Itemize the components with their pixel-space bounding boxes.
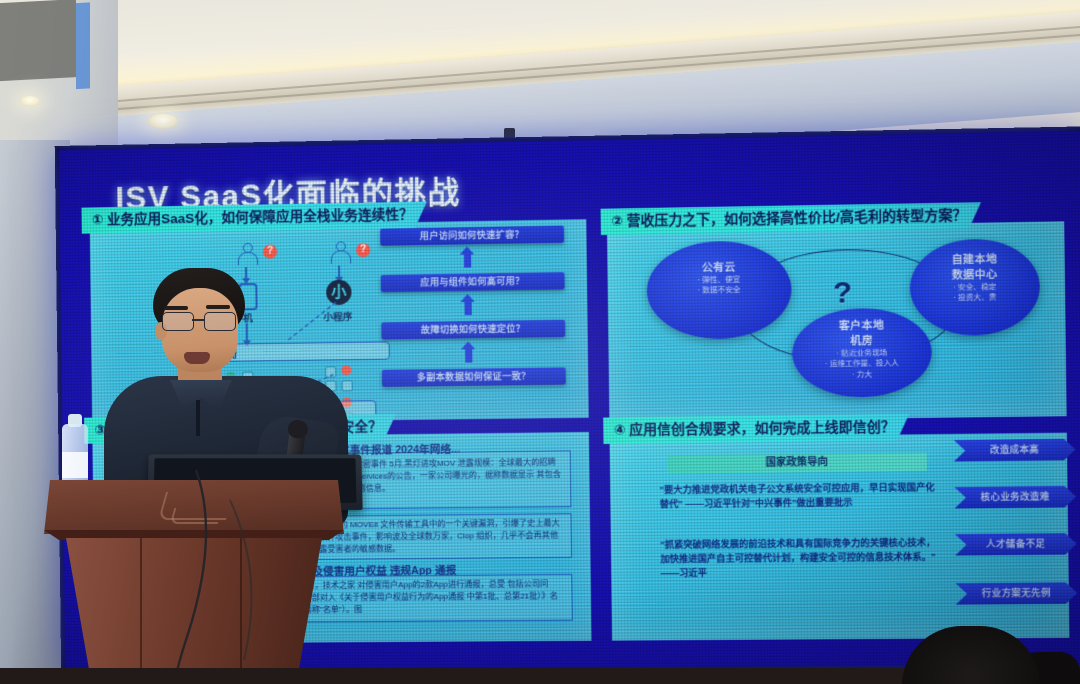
quadrant-2-diagram: 公有云 · 弹性、便宜 · 数据不安全 自建本地 数据中心 · 安全、稳定 · … [607, 221, 1067, 421]
q1-callout-box: 多副本数据如何保证一致？ [382, 367, 566, 387]
policy-quote: "要大力推进党政机关电子公文系统安全可控应用，早日实现国产化替代" ——习近平针… [660, 481, 936, 512]
question-mark-symbol: ? [833, 276, 852, 311]
challenge-ribbon: 人才储备不足 [955, 533, 1077, 556]
podium-top [44, 480, 344, 534]
up-arrow-icon [464, 253, 471, 267]
ceiling-downlight [148, 114, 178, 129]
pillar-blue-strip [76, 2, 90, 89]
q1-callout-box: 应用与组件如何高可用？ [381, 272, 565, 292]
speaker-eyebrow [164, 306, 188, 310]
ceiling-downlight [20, 96, 40, 106]
up-arrow-icon [465, 301, 472, 315]
speaker-mouth [184, 352, 210, 364]
challenge-ribbon: 核心业务改造难 [954, 486, 1076, 509]
up-arrow-icon [465, 348, 472, 362]
quadrant-2-panel: ② 营收压力之下，如何选择高性价比/高毛利的转型方案？ 公有云 · 弹性、便宜 … [607, 221, 1067, 421]
podium-seam [140, 538, 142, 684]
quadrant-4-panel: ④ 应用信创合规要求，如何完成上线即信创？ 国家政策导向 "要大力推进党政机关电… [610, 433, 1070, 641]
challenge-ribbon: 行业方案无先例 [955, 582, 1077, 604]
venn-node-title: 客户本地 机房 [792, 317, 932, 350]
q1-callout-box: 用户访问如何快速扩容？ [380, 226, 564, 246]
venn-node-bullet: · 数据不安全 [647, 284, 792, 297]
glasses-icon [160, 312, 238, 330]
podium-body [66, 538, 322, 684]
podium [44, 480, 344, 684]
polo-placket [196, 400, 200, 436]
venn-node-title: 自建本地 数据中心 [910, 250, 1040, 283]
policy-panel-title: 国家政策导向 [667, 453, 927, 474]
quadrant-4-heading: ④ 应用信创合规要求，如何完成上线即信创？ [603, 414, 909, 444]
screenshot-root: ISV SaaS化面临的挑战 ① 业务应用SaaS化，如何保障应用全栈业务连续性… [0, 0, 1080, 684]
venn-node-bullet: · 力大 [792, 368, 932, 380]
bottle-label [62, 452, 88, 478]
challenge-ribbon: 改造成本高 [954, 439, 1076, 462]
podium-logo-mark [170, 508, 223, 524]
venn-node-bullet: · 投资大、贵 [910, 292, 1040, 305]
pillar-panel [0, 0, 76, 81]
q1-callout-box: 故障切换如何快速定位？ [381, 320, 565, 340]
venn-node-customer-room: 客户本地 机房 · 贴近业务现场 · 运维工作量、投入人 · 力大 [792, 307, 933, 398]
quadrant-4-policy: 国家政策导向 "要大力推进党政机关电子公文系统安全可控应用，早日实现国产化替代"… [610, 433, 1070, 641]
policy-quote: "抓紧突破网络发展的前沿技术和具有国际竞争力的关键核心技术，加快推进国产自主可控… [660, 536, 943, 581]
speaker-eyebrow [206, 305, 230, 309]
podium-seam [240, 538, 242, 684]
